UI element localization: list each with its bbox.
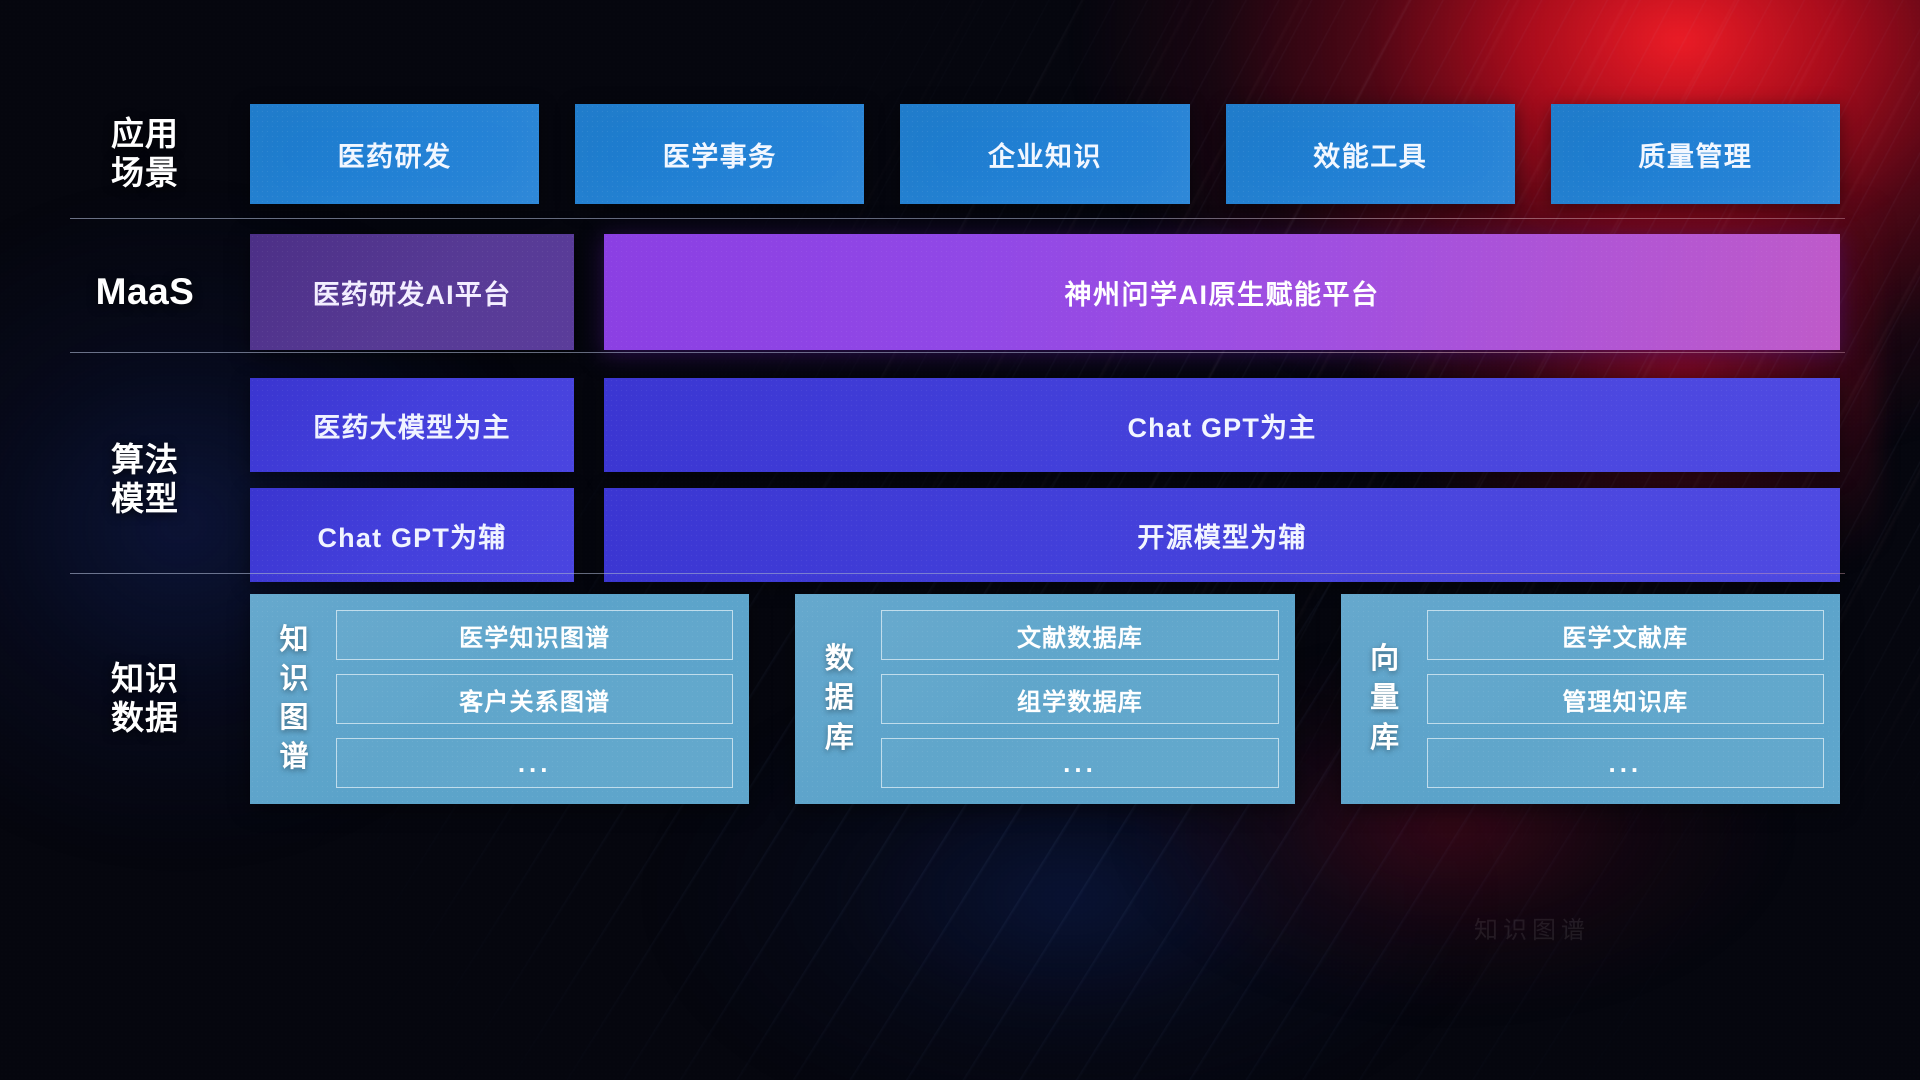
knowledge-panel-database[interactable]: 数 据 库 文献数据库 组学数据库 ... <box>795 594 1294 804</box>
knowledge-panel-title-vector-store: 向 量 库 <box>1355 610 1415 788</box>
knowledge-item-literature-database[interactable]: 文献数据库 <box>881 610 1278 660</box>
tier-label-line: 应用 <box>40 115 250 154</box>
tier-label-line: 知识 <box>40 660 250 699</box>
maas-box-shenzhou-wenxue-platform[interactable]: 神州问学AI原生赋能平台 <box>604 234 1840 350</box>
knowledge-panel-knowledge-graph[interactable]: 知 识 图 谱 医学知识图谱 客户关系图谱 ... <box>250 594 749 804</box>
knowledge-item-customer-relation-graph[interactable]: 客户关系图谱 <box>336 674 733 724</box>
vertical-title-char: 据 <box>825 680 854 717</box>
knowledge-panel-vector-store[interactable]: 向 量 库 医学文献库 管理知识库 ... <box>1341 594 1840 804</box>
knowledge-item-list: 医学知识图谱 客户关系图谱 ... <box>336 610 733 788</box>
vertical-title-char: 谱 <box>279 739 308 776</box>
vertical-title-char: 向 <box>1370 641 1399 678</box>
algorithm-row-secondary: Chat GPT为辅 开源模型为辅 <box>250 488 1840 582</box>
tier-label-maas: MaaS <box>0 270 250 314</box>
tier-separator-2 <box>70 352 1845 353</box>
tier-knowledge-data: 知识 数据 知 识 图 谱 医学知识图谱 客户关系图谱 <box>0 598 1920 800</box>
vertical-title-char: 库 <box>1370 720 1399 757</box>
knowledge-item-more[interactable]: ... <box>336 738 733 788</box>
knowledge-item-more[interactable]: ... <box>1427 738 1824 788</box>
tier-body-algorithm-models: 医药大模型为主 Chat GPT为主 Chat GPT为辅 开源模型为辅 <box>250 378 1920 582</box>
tier-separator-1 <box>70 218 1845 219</box>
knowledge-item-management-knowledge-store[interactable]: 管理知识库 <box>1427 674 1824 724</box>
maas-box-group: 医药研发AI平台 神州问学AI原生赋能平台 <box>250 234 1840 350</box>
knowledge-panel-title-knowledge-graph: 知 识 图 谱 <box>264 610 324 788</box>
tier-body-maas: 医药研发AI平台 神州问学AI原生赋能平台 <box>250 234 1920 350</box>
tier-label-line: 模型 <box>40 480 250 519</box>
tier-body-knowledge-data: 知 识 图 谱 医学知识图谱 客户关系图谱 ... 数 <box>250 594 1920 804</box>
algo-box-pharma-llm-primary[interactable]: 医药大模型为主 <box>250 378 574 472</box>
algo-box-opensource-secondary[interactable]: 开源模型为辅 <box>604 488 1840 582</box>
vertical-title-char: 量 <box>1370 680 1399 717</box>
slide-canvas: 应用 场景 医药研发 医学事务 企业知识 效能工具 质量管理 MaaS 医药研发… <box>0 0 1920 1080</box>
vertical-title-char: 库 <box>825 720 854 757</box>
tier-application-scenarios: 应用 场景 医药研发 医学事务 企业知识 效能工具 质量管理 <box>0 104 1920 204</box>
tier-label-line: 数据 <box>40 699 250 738</box>
algo-box-chatgpt-secondary[interactable]: Chat GPT为辅 <box>250 488 574 582</box>
tier-label-application-scenarios: 应用 场景 <box>0 115 250 193</box>
tier-separator-3 <box>70 573 1845 574</box>
tier-label-knowledge-data: 知识 数据 <box>0 660 250 738</box>
algorithm-row-primary: 医药大模型为主 Chat GPT为主 <box>250 378 1840 472</box>
knowledge-panel-group: 知 识 图 谱 医学知识图谱 客户关系图谱 ... 数 <box>250 594 1840 804</box>
tier-label-line: 算法 <box>40 441 250 480</box>
app-box-medical-affairs[interactable]: 医学事务 <box>575 104 864 204</box>
vertical-title-char: 数 <box>825 641 854 678</box>
knowledge-item-omics-database[interactable]: 组学数据库 <box>881 674 1278 724</box>
tier-algorithm-models: 算法 模型 医药大模型为主 Chat GPT为主 Chat GPT为辅 开源模型… <box>0 378 1920 582</box>
tier-body-application-scenarios: 医药研发 医学事务 企业知识 效能工具 质量管理 <box>250 104 1920 204</box>
vertical-title-char: 识 <box>279 661 308 698</box>
algo-box-chatgpt-primary[interactable]: Chat GPT为主 <box>604 378 1840 472</box>
tier-label-line: 场景 <box>40 154 250 193</box>
architecture-diagram: 应用 场景 医药研发 医学事务 企业知识 效能工具 质量管理 MaaS 医药研发… <box>0 0 1920 1080</box>
app-box-drug-rd[interactable]: 医药研发 <box>250 104 539 204</box>
app-box-enterprise-knowledge[interactable]: 企业知识 <box>900 104 1189 204</box>
knowledge-item-medical-literature-store[interactable]: 医学文献库 <box>1427 610 1824 660</box>
vertical-title-char: 知 <box>279 622 308 659</box>
vertical-title-char: 图 <box>279 700 308 737</box>
app-box-quality-management[interactable]: 质量管理 <box>1551 104 1840 204</box>
application-box-group: 医药研发 医学事务 企业知识 效能工具 质量管理 <box>250 104 1840 204</box>
knowledge-item-list: 文献数据库 组学数据库 ... <box>881 610 1278 788</box>
knowledge-item-list: 医学文献库 管理知识库 ... <box>1427 610 1824 788</box>
app-box-efficiency-tools[interactable]: 效能工具 <box>1226 104 1515 204</box>
knowledge-item-medical-knowledge-graph[interactable]: 医学知识图谱 <box>336 610 733 660</box>
maas-box-drug-rd-ai-platform[interactable]: 医药研发AI平台 <box>250 234 574 350</box>
tier-label-algorithm-models: 算法 模型 <box>0 441 250 519</box>
knowledge-panel-title-database: 数 据 库 <box>809 610 869 788</box>
knowledge-item-more[interactable]: ... <box>881 738 1278 788</box>
tier-maas: MaaS 医药研发AI平台 神州问学AI原生赋能平台 <box>0 234 1920 350</box>
